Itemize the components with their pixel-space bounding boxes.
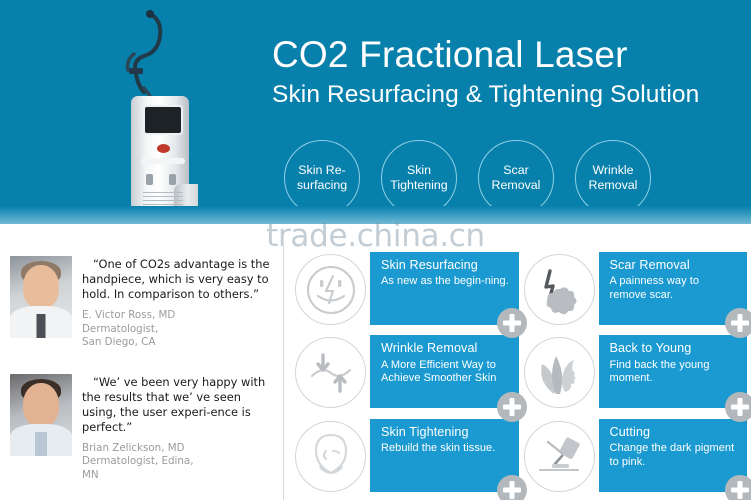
feature-card-skin-tightening[interactable]: Skin Tightening Rebuild the skin tissue. (295, 419, 519, 498)
testimonial-text: “One of CO2s advantage is the handpiece,… (82, 256, 278, 350)
testimonial-author-role: Dermatologist, (82, 323, 278, 337)
feature-text-box: Scar Removal A painness way to remove sc… (599, 252, 748, 325)
avatar-victor-ross (10, 256, 72, 338)
machine-port-right (169, 174, 176, 185)
feature-description: As new as the begin-ning. (381, 275, 510, 289)
machine-handle-bar (141, 158, 185, 164)
feature-grid: Skin Resurfacing As new as the begin-nin… (295, 252, 747, 498)
feature-title: Scar Removal (610, 258, 739, 273)
testimonial-author-name: E. Victor Ross, MD (82, 309, 278, 323)
testimonial-item: “We’ ve been very happy with the results… (10, 374, 278, 483)
testimonial-quote: “We’ ve been very happy with the results… (82, 375, 278, 435)
feature-description: Rebuild the skin tissue. (381, 442, 510, 456)
feature-title: Cutting (610, 425, 739, 440)
avatar-brian-zelickson (10, 374, 72, 456)
testimonial-item: “One of CO2s advantage is the handpiece,… (10, 256, 278, 350)
feature-card-scar-removal[interactable]: Scar Removal A painness way to remove sc… (524, 252, 748, 331)
feature-card-cutting[interactable]: Cutting Change the dark pigment to pink. (524, 419, 748, 498)
machine-port-left (146, 174, 153, 185)
vertical-divider (283, 246, 284, 500)
avatar-face (23, 383, 59, 427)
plus-icon[interactable] (497, 392, 527, 422)
feature-card-wrinkle-removal[interactable]: Wrinkle Removal A More Efficient Way to … (295, 335, 519, 414)
leaf-profile-icon (524, 337, 595, 408)
testimonial-author-name: Brian Zelickson, MD (82, 442, 278, 456)
machine-display-screen (143, 105, 183, 135)
header-gradient-fade (0, 206, 751, 224)
testimonial-attribution: E. Victor Ross, MD Dermatologist, San Di… (82, 309, 278, 350)
feature-card-back-to-young[interactable]: Back to Young Find back the young moment… (524, 335, 748, 414)
badge-label: Scar Removal (484, 163, 548, 194)
testimonial-quote: “One of CO2s advantage is the handpiece,… (82, 257, 278, 302)
plus-icon[interactable] (497, 308, 527, 338)
feature-text-box: Back to Young Find back the young moment… (599, 335, 748, 408)
feature-text-box: Wrinkle Removal A More Efficient Way to … (370, 335, 519, 408)
testimonial-author-location: MN (82, 469, 278, 483)
scalpel-cut-icon (524, 421, 595, 492)
machine-logo (157, 144, 170, 153)
plus-icon[interactable] (725, 308, 751, 338)
face-lightning-icon (295, 254, 366, 325)
feature-text-box: Cutting Change the dark pigment to pink. (599, 419, 748, 492)
testimonial-author-role: Dermatologist, Edina, (82, 455, 278, 469)
badge-label: Skin Re-surfacing (290, 163, 354, 194)
feature-description: A More Efficient Way to Achieve Smoother… (381, 359, 510, 387)
testimonials-panel: “One of CO2s advantage is the handpiece,… (0, 248, 283, 500)
plus-icon[interactable] (725, 392, 751, 422)
plus-icon[interactable] (497, 475, 527, 500)
badge-scar-removal[interactable]: Scar Removal (478, 140, 554, 216)
machine-console-body (131, 96, 189, 220)
header-section: CO2 Fractional Laser Skin Resurfacing & … (0, 0, 751, 224)
title-block: CO2 Fractional Laser Skin Resurfacing & … (272, 34, 742, 109)
feature-title: Skin Tightening (381, 425, 510, 440)
avatar-face (23, 265, 59, 309)
feature-text-box: Skin Tightening Rebuild the skin tissue. (370, 419, 519, 492)
testimonial-attribution: Brian Zelickson, MD Dermatologist, Edina… (82, 442, 278, 483)
badge-label: Wrinkle Removal (581, 163, 645, 194)
testimonial-author-location: San Diego, CA (82, 336, 278, 350)
face-tighten-icon (295, 421, 366, 492)
page-title: CO2 Fractional Laser (272, 34, 742, 75)
feature-text-box: Skin Resurfacing As new as the begin-nin… (370, 252, 519, 325)
feature-description: A painness way to remove scar. (610, 275, 739, 303)
feature-card-skin-resurfacing[interactable]: Skin Resurfacing As new as the begin-nin… (295, 252, 519, 331)
badge-label: Skin Tightening (387, 163, 451, 194)
avatar-tie (37, 314, 46, 338)
page-subtitle: Skin Resurfacing & Tightening Solution (272, 81, 742, 109)
lightning-scar-icon (524, 254, 595, 325)
testimonial-text: “We’ ve been very happy with the results… (82, 374, 278, 483)
badge-skin-resurfacing[interactable]: Skin Re-surfacing (284, 140, 360, 216)
feature-title: Skin Resurfacing (381, 258, 510, 273)
wave-arrows-icon (295, 337, 366, 408)
badge-skin-tightening[interactable]: Skin Tightening (381, 140, 457, 216)
feature-title: Back to Young (610, 341, 739, 356)
feature-description: Change the dark pigment to pink. (610, 442, 739, 470)
plus-icon[interactable] (725, 475, 751, 500)
feature-description: Find back the young moment. (610, 359, 739, 387)
articulated-arm-icon (110, 10, 186, 96)
avatar-tie (35, 432, 47, 456)
promo-banner: CO2 Fractional Laser Skin Resurfacing & … (0, 0, 751, 500)
badge-wrinkle-removal[interactable]: Wrinkle Removal (575, 140, 651, 216)
co2-laser-machine-image (88, 8, 218, 224)
feature-title: Wrinkle Removal (381, 341, 510, 356)
